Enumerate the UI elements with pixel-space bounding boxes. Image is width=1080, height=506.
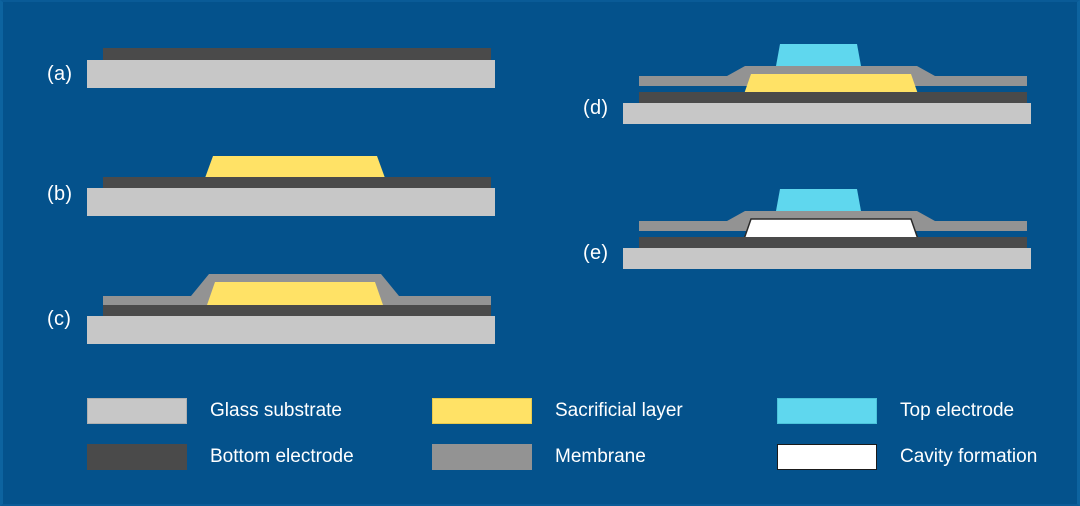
glass-substrate-layer	[87, 60, 495, 88]
bottom-electrode-layer	[639, 237, 1027, 248]
top-electrode-layer	[776, 44, 861, 66]
stage-b-label: (b)	[47, 183, 72, 206]
stage-e-diagram	[623, 185, 1043, 269]
legend-label-glass-substrate: Glass substrate	[210, 400, 342, 422]
sacrificial-layer	[207, 282, 383, 305]
legend-item-bottom-electrode: Bottom electrode	[87, 444, 432, 470]
stage-d-label: (d)	[583, 97, 608, 120]
legend-swatch-glass-substrate	[87, 398, 187, 424]
legend-label-top-electrode: Top electrode	[900, 400, 1014, 422]
legend-swatch-membrane	[432, 444, 532, 470]
stage-d-diagram	[623, 40, 1043, 124]
stage-c-diagram	[87, 264, 507, 344]
legend-swatch-sacrificial-layer	[432, 398, 532, 424]
glass-substrate-layer	[623, 248, 1031, 269]
top-electrode-layer	[776, 189, 861, 211]
bottom-electrode-layer	[103, 305, 491, 316]
legend-item-membrane: Membrane	[432, 444, 777, 470]
legend-item-cavity-formation: Cavity formation	[777, 444, 1037, 470]
legend-swatch-bottom-electrode	[87, 444, 187, 470]
bottom-electrode-layer	[103, 177, 491, 188]
bottom-electrode-layer	[639, 92, 1027, 103]
glass-substrate-layer	[87, 188, 495, 216]
legend: Glass substrate Sacrificial layer Top el…	[87, 388, 1037, 480]
glass-substrate-layer	[87, 316, 495, 344]
legend-label-membrane: Membrane	[555, 446, 646, 468]
stage-b-diagram	[87, 146, 507, 216]
legend-swatch-top-electrode	[777, 398, 877, 424]
legend-label-sacrificial-layer: Sacrificial layer	[555, 400, 683, 422]
stage-c-label: (c)	[47, 308, 71, 331]
glass-substrate-layer	[623, 103, 1031, 124]
stage-a-label: (a)	[47, 63, 72, 86]
legend-swatch-cavity-formation	[777, 444, 877, 470]
sacrificial-layer	[205, 156, 385, 178]
legend-label-bottom-electrode: Bottom electrode	[210, 446, 354, 468]
process-flow-figure: (a) (b) (c)	[0, 0, 1080, 506]
legend-item-glass-substrate: Glass substrate	[87, 398, 432, 424]
stage-e-label: (e)	[583, 242, 608, 265]
legend-item-top-electrode: Top electrode	[777, 398, 1037, 424]
legend-item-sacrificial-layer: Sacrificial layer	[432, 398, 777, 424]
stage-a-diagram	[87, 46, 507, 96]
legend-label-cavity-formation: Cavity formation	[900, 446, 1037, 468]
bottom-electrode-layer	[103, 48, 491, 60]
